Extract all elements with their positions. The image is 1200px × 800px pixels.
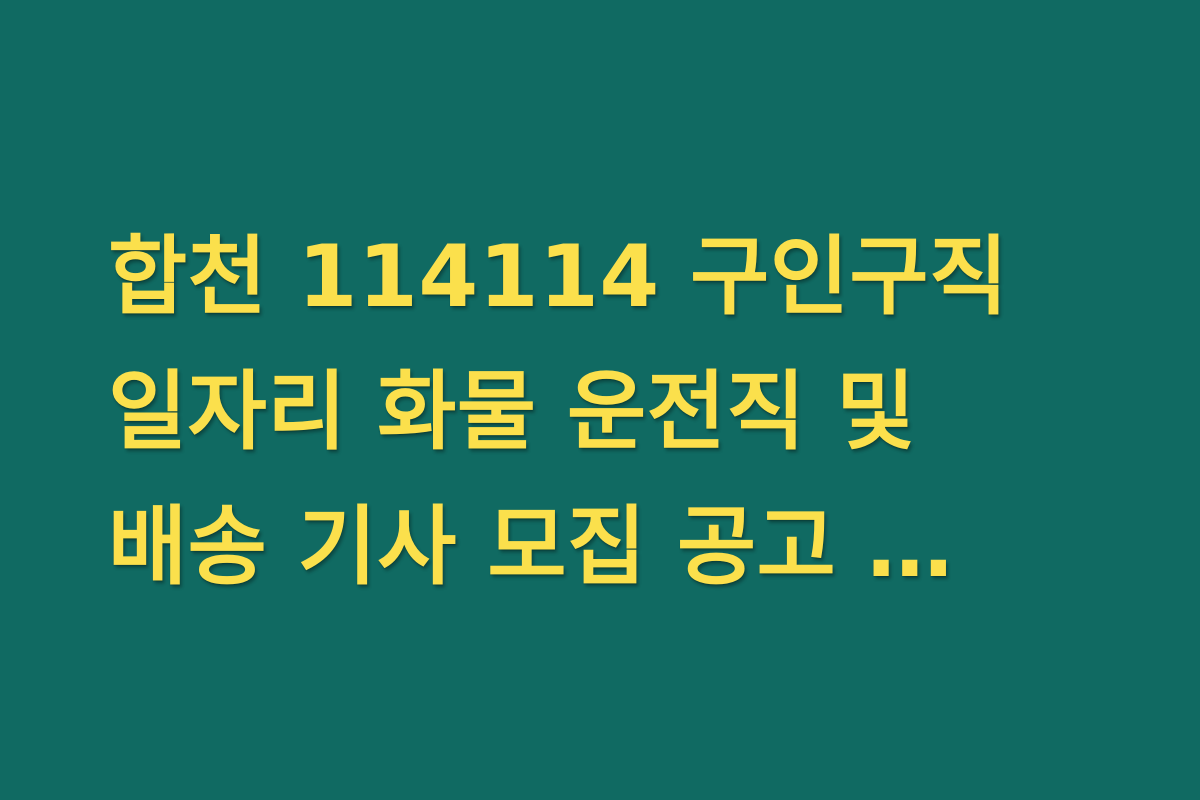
text-thumbnail-card: 합천 114114 구인구직 일자리 화물 운전직 및 배송 기사 모집 공고 … (0, 0, 1200, 800)
headline-line-3: 배송 기사 모집 공고 … (108, 480, 1108, 615)
headline-line-1: 합천 114114 구인구직 (108, 210, 1108, 345)
headline-text-block: 합천 114114 구인구직 일자리 화물 운전직 및 배송 기사 모집 공고 … (108, 210, 1108, 615)
headline-line-2: 일자리 화물 운전직 및 (108, 345, 1108, 480)
